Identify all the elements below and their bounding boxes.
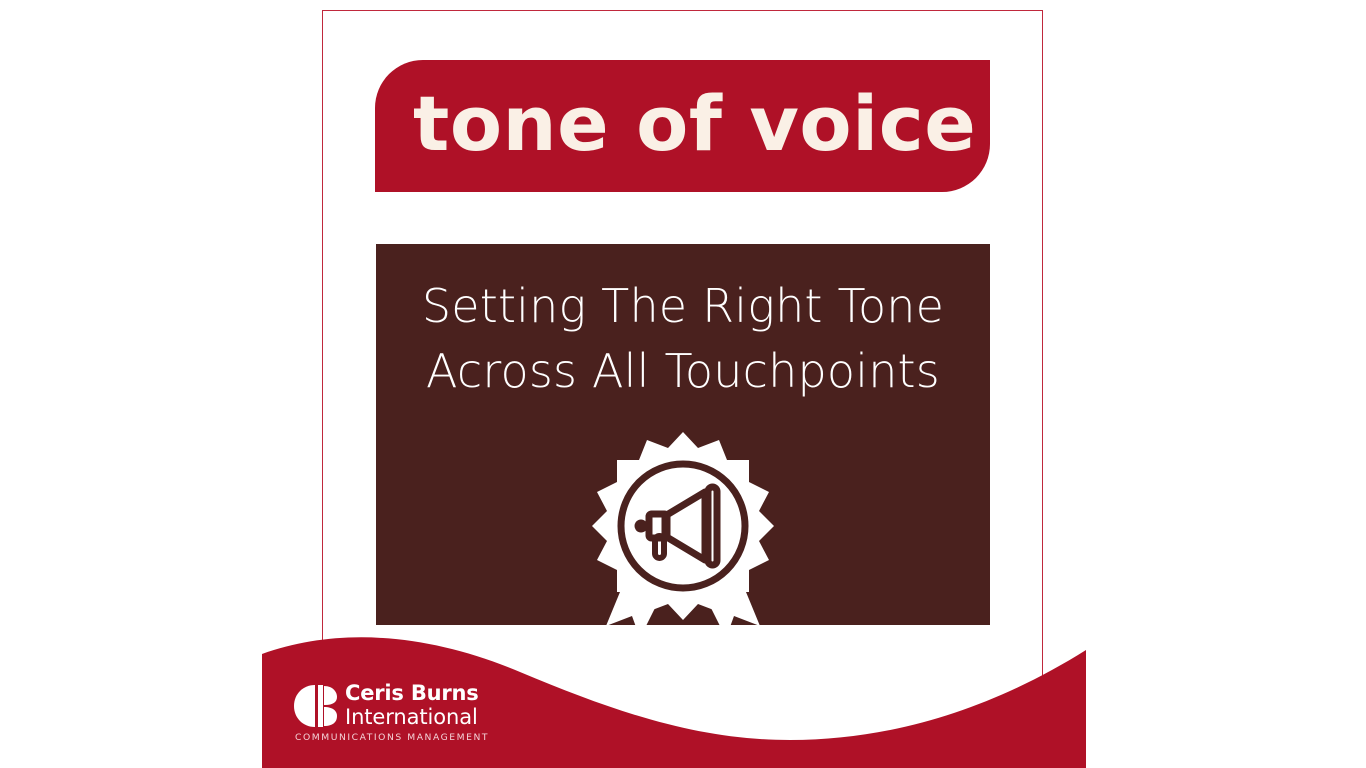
- brand-logo-lockup: Ceris Burns International COMMUNICATIONS…: [293, 684, 533, 752]
- rosette-megaphone-icon: [588, 430, 778, 625]
- title-text-block: Setting The Right Tone Across All Touchp…: [376, 274, 990, 405]
- tone-of-voice-banner-label: tone of voice: [413, 86, 976, 162]
- tone-of-voice-banner: tone of voice: [375, 60, 990, 192]
- footer-wave-decoration: [0, 628, 1366, 768]
- brand-name-line-2: International: [345, 706, 479, 730]
- brand-tagline: COMMUNICATIONS MANAGEMENT: [295, 732, 489, 743]
- cb-monogram-icon: [293, 684, 339, 728]
- page-title-line-1: Setting The Right Tone: [376, 274, 990, 339]
- brand-name-line-1: Ceris Burns: [345, 682, 479, 706]
- brand-wordmark: Ceris Burns International: [345, 682, 479, 729]
- title-card: Setting The Right Tone Across All Touchp…: [376, 244, 990, 625]
- slide-canvas: tone of voice Setting The Right Tone Acr…: [0, 0, 1366, 768]
- page-title-line-2: Across All Touchpoints: [376, 339, 990, 404]
